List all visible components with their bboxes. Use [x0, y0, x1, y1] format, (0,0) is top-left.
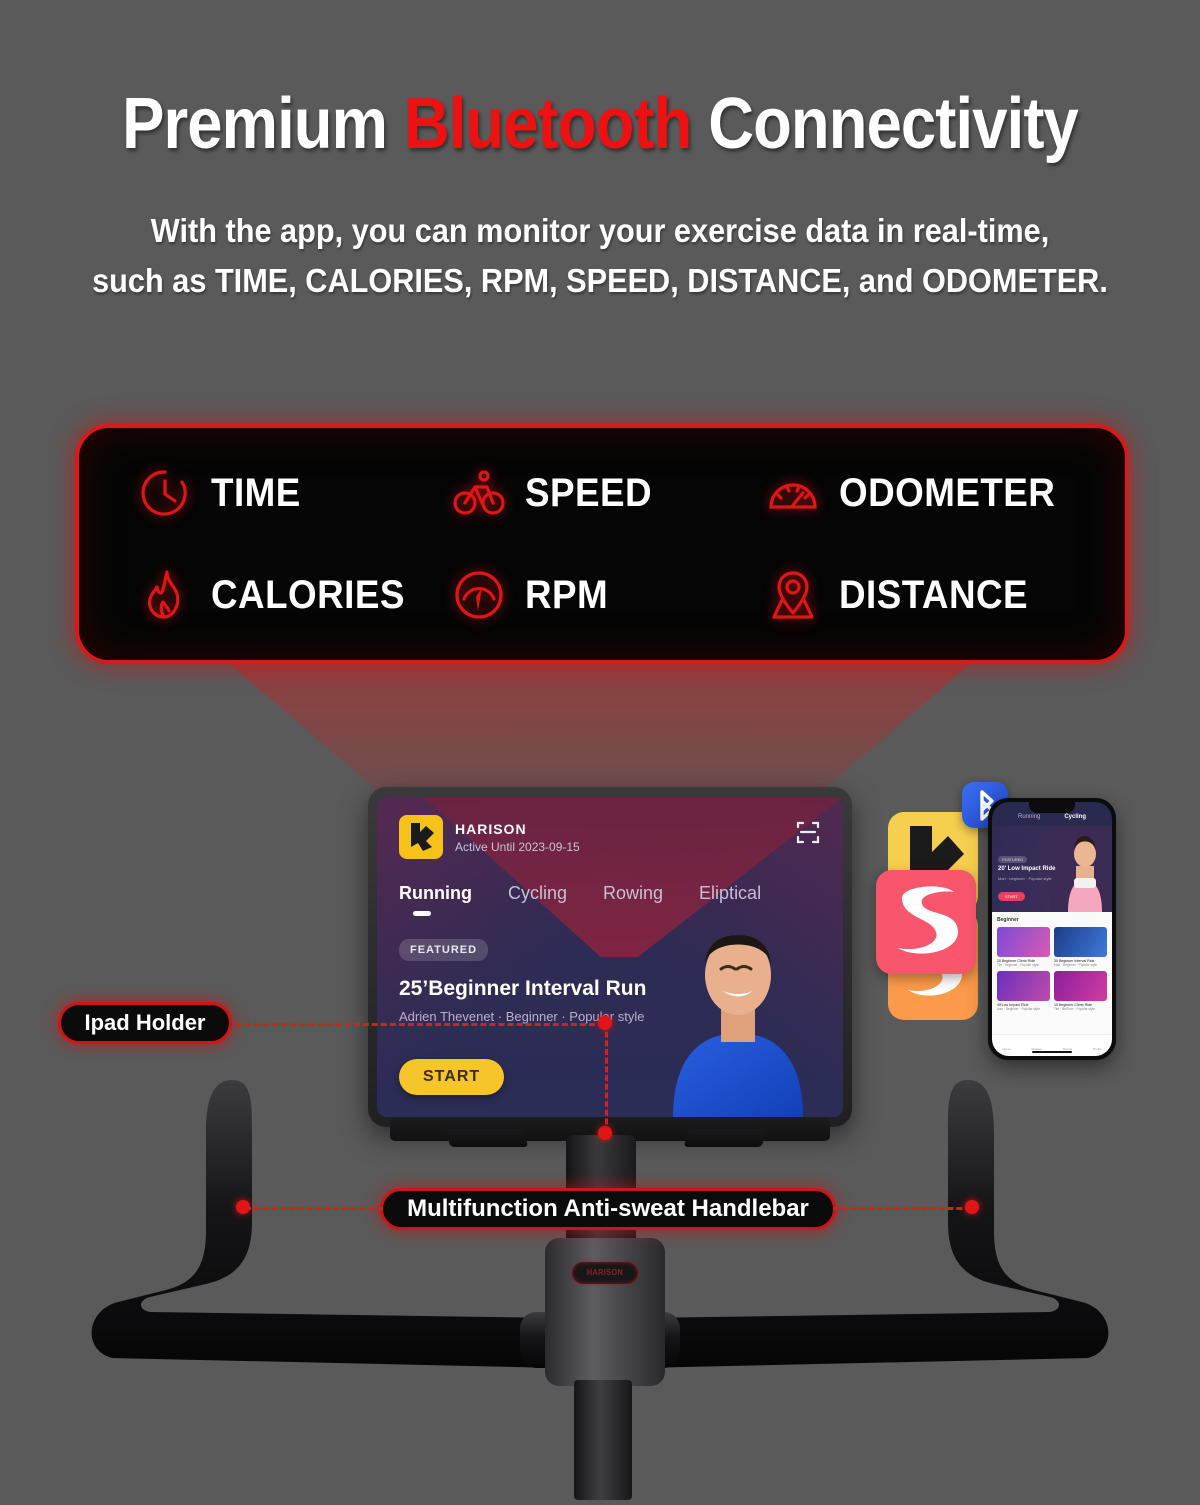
metric-distance: DISTANCE — [765, 567, 1079, 623]
metric-calories: CALORIES — [137, 567, 451, 623]
phone-nav-label: Home — [1002, 1047, 1010, 1051]
phone-home-indicator — [1032, 1051, 1072, 1053]
metric-odometer: ODOMETER — [765, 465, 1079, 521]
phone-nav-profile[interactable]: Profile — [1093, 1037, 1102, 1055]
title-part-2: Connectivity — [692, 84, 1078, 164]
title-part-1: Premium — [122, 84, 404, 164]
callout-handlebar: Multifunction Anti-sweat Handlebar — [380, 1188, 836, 1230]
phone-card-meta: Tim · beginner · Popular style — [997, 963, 1050, 967]
title-highlight: Bluetooth — [404, 84, 692, 164]
phone-card[interactable]: 20 Beginner Climb Ride Tim · beginner · … — [997, 927, 1050, 967]
handlebar-hub — [545, 1238, 665, 1386]
phone-hero-badge: FEATURED — [998, 856, 1027, 863]
gauge-semicircle-icon — [765, 465, 821, 521]
phone-notch — [1029, 802, 1075, 813]
phone-card-meta: Mari · Beginner · Popular style — [1054, 963, 1107, 967]
phone-hero: FEATURED 20' Low Impact Ride Mari · begi… — [992, 826, 1112, 912]
callout-line-handlebar-right — [833, 1207, 971, 1210]
callout-ipad-holder: Ipad Holder — [58, 1002, 232, 1044]
course-title: 25’Beginner Interval Run — [399, 977, 646, 1001]
phone-screen: Running Cycling FEATURED 20' Low Impact … — [992, 802, 1112, 1056]
phone-nav-label: Device — [1063, 1047, 1072, 1051]
metric-label: CALORIES — [211, 573, 405, 618]
tab-running[interactable]: Running — [399, 883, 472, 904]
membership-status: Active Until 2023-09-15 — [455, 840, 580, 854]
callout-dot-handlebar-right — [965, 1200, 979, 1214]
page-title: Premium Bluetooth Connectivity — [72, 88, 1128, 160]
phone-card-meta: Tim · BeGinor · Popular style — [1054, 1007, 1107, 1011]
tachometer-icon — [451, 567, 507, 623]
phone-card-meta: Ivan · Beginner · Popular style — [997, 1007, 1050, 1011]
phone-card[interactable]: 45'Low Impact Ride Ivan · Beginner · Pop… — [997, 971, 1050, 1011]
clock-icon — [137, 465, 193, 521]
phone-nav-label: Profile — [1093, 1047, 1102, 1051]
phone-card-thumb — [1054, 971, 1107, 1001]
subtitle-line-2: such as TIME, CALORIES, RPM, SPEED, DIST… — [42, 256, 1158, 306]
callout-line-ipad — [236, 1023, 604, 1026]
phone-hero-meta: Mari · beginner · Popular style — [998, 876, 1052, 881]
phone-nav-home[interactable]: Home — [1002, 1037, 1010, 1055]
callout-line-handlebar-left — [245, 1207, 383, 1210]
hub-brand-logo: HARISON — [572, 1262, 638, 1284]
phone-card-thumb — [997, 927, 1050, 957]
callout-label: Multifunction Anti-sweat Handlebar — [407, 1195, 809, 1223]
tab-cycling[interactable]: Cycling — [508, 883, 567, 904]
phone-card-thumb — [997, 971, 1050, 1001]
phone-card[interactable]: 15 Beginner Climb Ride Tim · BeGinor · P… — [1054, 971, 1107, 1011]
metric-label: SPEED — [525, 471, 652, 516]
support-post — [574, 1380, 632, 1500]
callout-dot-handlebar-left — [236, 1200, 250, 1214]
metric-time: TIME — [137, 465, 451, 521]
metric-label: DISTANCE — [839, 573, 1028, 618]
phone-nav-label: Classes — [1031, 1047, 1042, 1051]
bicycle-icon — [451, 465, 507, 521]
phone-card-grid: 20 Beginner Climb Ride Tim · beginner · … — [997, 927, 1107, 1011]
phone-start-button[interactable]: START — [998, 892, 1025, 901]
app-icon-pink — [876, 870, 976, 974]
metric-rpm: RPM — [451, 567, 765, 623]
map-pin-icon — [765, 567, 821, 623]
hub-brand-text: HARISON — [575, 1262, 634, 1284]
phone-class-list: Beginner 20 Beginner Climb Ride Tim · be… — [992, 912, 1112, 1034]
phone-hero-photo — [1050, 826, 1112, 912]
flame-icon — [137, 567, 193, 623]
scan-frame-icon[interactable] — [795, 819, 821, 845]
callout-line-ipad-vertical — [605, 1023, 608, 1133]
app-header: HARISON Active Until 2023-09-15 — [399, 815, 580, 859]
phone-section-title: Beginner — [997, 917, 1107, 923]
phone-device: Running Cycling FEATURED 20' Low Impact … — [988, 798, 1116, 1060]
callout-label: Ipad Holder — [84, 1010, 205, 1036]
metrics-panel: TIME SPEED ODOMETER — [75, 424, 1129, 664]
metric-label: TIME — [211, 471, 301, 516]
brand-name: HARISON — [455, 821, 580, 837]
phone-hero-title: 20' Low Impact Ride — [998, 866, 1055, 872]
callout-dot-ipad-end — [598, 1126, 612, 1140]
featured-badge: FEATURED — [399, 939, 488, 961]
metric-speed: SPEED — [451, 465, 765, 521]
phone-tab-cycling[interactable]: Cycling — [1064, 814, 1086, 820]
metric-label: RPM — [525, 573, 608, 618]
subtitle-line-1: With the app, you can monitor your exerc… — [42, 206, 1158, 256]
app-icon-stack — [880, 812, 990, 1032]
phone-card[interactable]: 30 Beginner Interval Ride Mari · Beginne… — [1054, 927, 1107, 967]
phone-tabs: Running Cycling — [992, 814, 1112, 820]
callout-dot-ipad — [598, 1016, 612, 1030]
phone-card-thumb — [1054, 927, 1107, 957]
harison-logo-icon — [399, 815, 443, 859]
metric-label: ODOMETER — [839, 471, 1055, 516]
phone-tab-running[interactable]: Running — [1018, 814, 1040, 820]
